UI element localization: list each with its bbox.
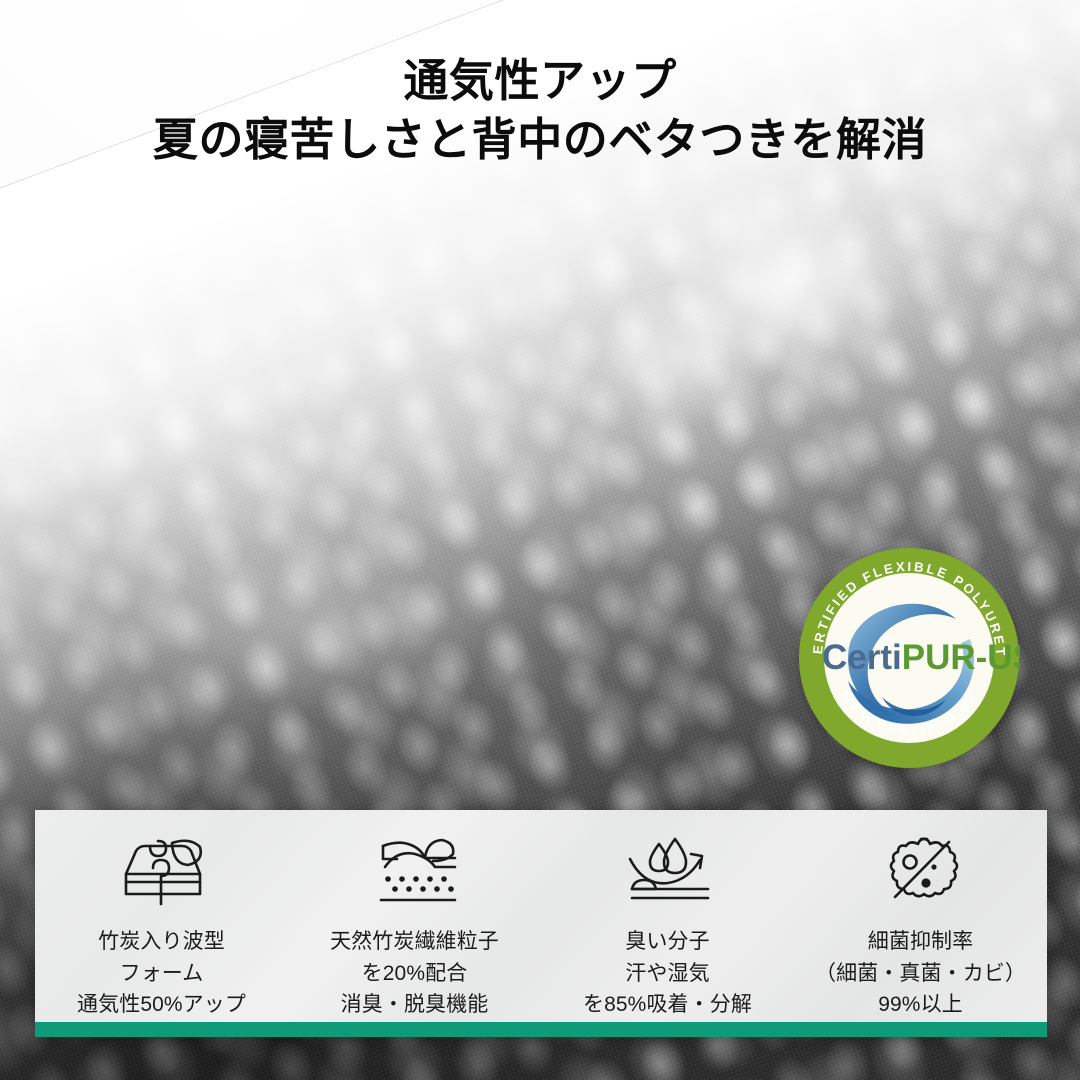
feature-caption-line: 消臭・脱臭機能 [330, 989, 499, 1021]
feature-caption-line: 通気性50%アップ [77, 989, 246, 1021]
feature-caption: 細菌抑制率 （細菌・真菌・カビ） 99%以上 [815, 926, 1026, 1021]
feature-item-charcoal-particles: 天然竹炭繊維粒子 を20%配合 消臭・脱臭機能 [288, 834, 541, 1021]
badge-logo-certi: Certi [822, 638, 902, 677]
svg-text:CertiPUR-US®: CertiPUR-US® [822, 638, 1020, 677]
wave-foam-leaf-icon [110, 834, 214, 908]
feature-caption-line: 汗や湿気 [583, 958, 752, 990]
feature-caption-line: 竹炭入り波型 [77, 926, 246, 958]
feature-caption-line: 99%以上 [815, 989, 1026, 1021]
antibacterial-germ-slash-icon [869, 834, 973, 908]
headline-line-1: 通気性アップ [0, 52, 1080, 111]
product-marketing-image: 通気性アップ 夏の寝苦しさと背中のベタつきを解消 [0, 0, 1080, 1080]
badge-logo-purus: PUR-US [902, 638, 1020, 677]
panel-accent-bar [35, 1022, 1047, 1037]
headline: 通気性アップ 夏の寝苦しさと背中のベタつきを解消 [0, 52, 1080, 169]
feature-caption-line: （細菌・真菌・カビ） [815, 958, 1026, 990]
feature-caption-line: フォーム [77, 958, 246, 990]
feature-caption: 天然竹炭繊維粒子 を20%配合 消臭・脱臭機能 [330, 926, 499, 1021]
charcoal-fiber-particles-icon [363, 834, 467, 908]
feature-caption-line: を85%吸着・分解 [583, 989, 752, 1021]
feature-panel-body: 竹炭入り波型 フォーム 通気性50%アップ [35, 810, 1047, 1022]
feature-caption: 臭い分子 汗や湿気 を85%吸着・分解 [583, 926, 752, 1021]
feature-caption-line: を20%配合 [330, 958, 499, 990]
feature-caption-line: 天然竹炭繊維粒子 [330, 926, 499, 958]
feature-item-antibacterial: 細菌抑制率 （細菌・真菌・カビ） 99%以上 [794, 834, 1047, 1021]
feature-item-wave-foam: 竹炭入り波型 フォーム 通気性50%アップ [35, 834, 288, 1021]
moisture-wicking-droplet-icon [616, 834, 720, 908]
headline-line-2: 夏の寝苦しさと背中のベタつきを解消 [0, 111, 1080, 170]
feature-caption: 竹炭入り波型 フォーム 通気性50%アップ [77, 926, 246, 1021]
feature-caption-line: 細菌抑制率 [815, 926, 1026, 958]
feature-item-moisture-wicking: 臭い分子 汗や湿気 を85%吸着・分解 [541, 834, 794, 1021]
feature-panel: 竹炭入り波型 フォーム 通気性50%アップ [35, 810, 1047, 1037]
feature-caption-line: 臭い分子 [583, 926, 752, 958]
certipur-us-badge: CONTAINS CERTIFIED FLEXIBLE POLYURETHANE… [798, 547, 1020, 769]
